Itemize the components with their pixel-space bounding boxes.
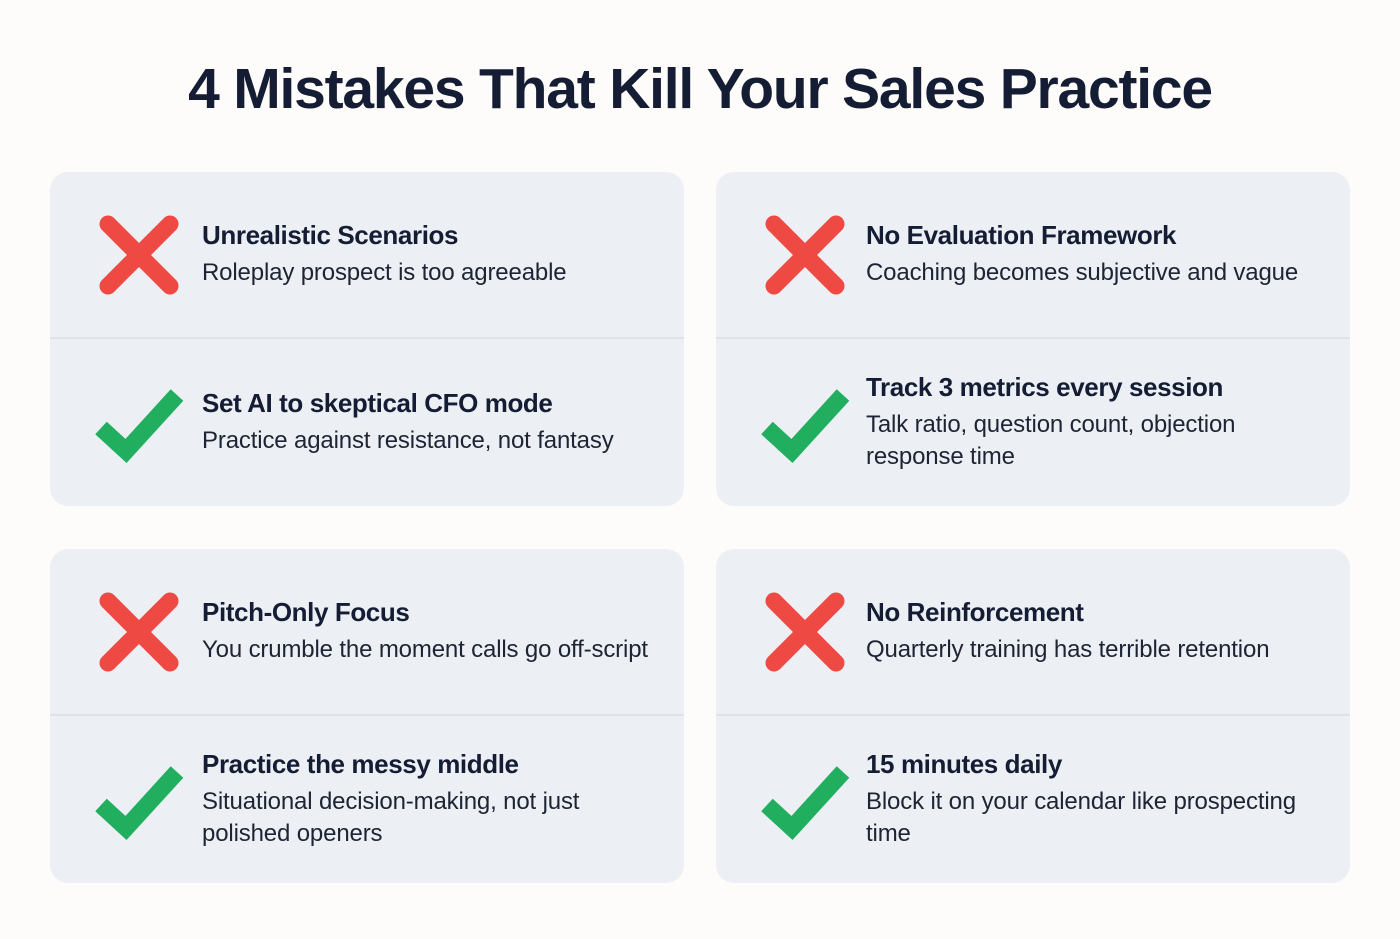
- mistake-description: Quarterly training has terrible retentio…: [866, 634, 1324, 666]
- mistake-card: No Evaluation Framework Coaching becomes…: [716, 172, 1350, 506]
- check-mark-icon: [80, 381, 198, 465]
- mistake-text: Pitch-Only Focus You crumble the moment …: [198, 597, 658, 665]
- x-mark-icon: [80, 590, 198, 674]
- mistake-title: Pitch-Only Focus: [202, 597, 658, 629]
- fix-description: Practice against resistance, not fantasy: [202, 425, 658, 457]
- x-mark-icon: [746, 213, 864, 297]
- fix-title: Track 3 metrics every session: [866, 372, 1324, 404]
- fix-text: 15 minutes daily Block it on your calend…: [864, 749, 1324, 849]
- fix-description: Talk ratio, question count, objection re…: [866, 409, 1324, 472]
- check-mark-icon: [746, 758, 864, 842]
- fix-text: Set AI to skeptical CFO mode Practice ag…: [198, 388, 658, 456]
- mistake-description: You crumble the moment calls go off-scri…: [202, 634, 658, 666]
- x-mark-icon: [746, 590, 864, 674]
- fix-row: Set AI to skeptical CFO mode Practice ag…: [50, 339, 684, 506]
- page-title: 4 Mistakes That Kill Your Sales Practice: [0, 57, 1400, 123]
- fix-title: 15 minutes daily: [866, 749, 1324, 781]
- mistake-description: Roleplay prospect is too agreeable: [202, 257, 658, 289]
- fix-row: Practice the messy middle Situational de…: [50, 716, 684, 883]
- mistake-row: No Evaluation Framework Coaching becomes…: [716, 172, 1350, 339]
- fix-text: Track 3 metrics every session Talk ratio…: [864, 372, 1324, 472]
- mistake-title: Unrealistic Scenarios: [202, 220, 658, 252]
- mistakes-grid: Unrealistic Scenarios Roleplay prospect …: [50, 172, 1350, 883]
- fix-row: Track 3 metrics every session Talk ratio…: [716, 339, 1350, 506]
- mistake-card: Pitch-Only Focus You crumble the moment …: [50, 549, 684, 883]
- mistake-row: Pitch-Only Focus You crumble the moment …: [50, 549, 684, 716]
- infographic-page: 4 Mistakes That Kill Your Sales Practice…: [0, 0, 1400, 939]
- fix-title: Practice the messy middle: [202, 749, 658, 781]
- mistake-description: Coaching becomes subjective and vague: [866, 257, 1324, 289]
- mistake-row: Unrealistic Scenarios Roleplay prospect …: [50, 172, 684, 339]
- check-mark-icon: [746, 381, 864, 465]
- mistake-row: No Reinforcement Quarterly training has …: [716, 549, 1350, 716]
- mistake-text: No Evaluation Framework Coaching becomes…: [864, 220, 1324, 288]
- x-mark-icon: [80, 213, 198, 297]
- mistake-text: No Reinforcement Quarterly training has …: [864, 597, 1324, 665]
- mistake-card: Unrealistic Scenarios Roleplay prospect …: [50, 172, 684, 506]
- fix-description: Block it on your calendar like prospecti…: [866, 786, 1324, 849]
- mistake-text: Unrealistic Scenarios Roleplay prospect …: [198, 220, 658, 288]
- mistake-title: No Evaluation Framework: [866, 220, 1324, 252]
- mistake-title: No Reinforcement: [866, 597, 1324, 629]
- fix-text: Practice the messy middle Situational de…: [198, 749, 658, 849]
- fix-description: Situational decision-making, not just po…: [202, 786, 658, 849]
- check-mark-icon: [80, 758, 198, 842]
- fix-title: Set AI to skeptical CFO mode: [202, 388, 658, 420]
- fix-row: 15 minutes daily Block it on your calend…: [716, 716, 1350, 883]
- mistake-card: No Reinforcement Quarterly training has …: [716, 549, 1350, 883]
